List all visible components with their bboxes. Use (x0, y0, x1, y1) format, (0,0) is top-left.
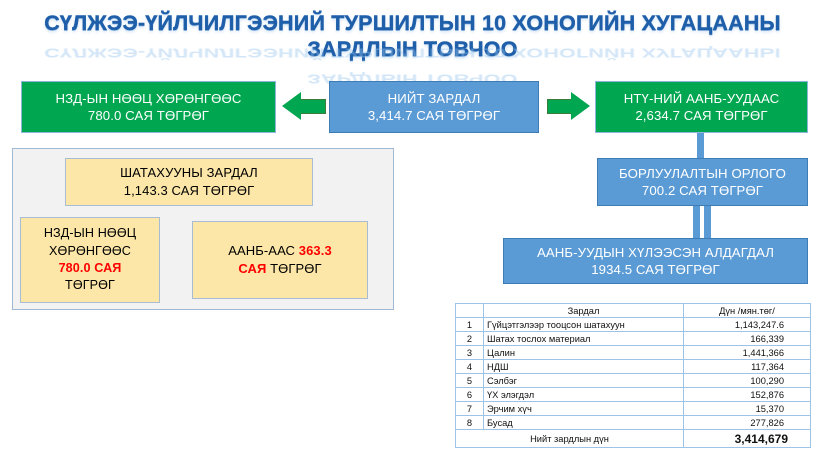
flow-box-sales-revenue-line-2: 700.2 САЯ ТӨГРӨГ (642, 182, 763, 199)
cost-table-body: 1Гүйцэтгэлээр тооцсон шатахуун1,143,247.… (456, 318, 811, 430)
total-label: Нийт зардлын дүн (456, 430, 684, 448)
breakdown-box-from-aanb-line-2: САЯ ТӨГРӨГ (238, 260, 321, 278)
cell-value: 117,364 (684, 360, 811, 374)
cell-no: 8 (456, 416, 484, 430)
table-header-row: Зардал Дүн /мян.төг/ (456, 304, 811, 318)
cell-name: Сэлбэг (484, 374, 684, 388)
breakdown-box-from-reserve: НЗД-ЫН НӨӨЦ ХӨРӨНГӨӨС 780.0 САЯ ТӨГРӨГ (20, 217, 160, 303)
connector-line-double-left (693, 206, 700, 238)
breakdown-box-from-aanb-prefix: ААНБ-ААС (228, 243, 299, 258)
col-header-no (456, 304, 484, 318)
flow-box-source-right-line-1: НТҮ-НИЙ ААНБ-УУДААС (624, 90, 779, 107)
cell-name: НДШ (484, 360, 684, 374)
cell-value: 277,826 (684, 416, 811, 430)
breakdown-box-from-aanb: ААНБ-ААС 363.3 САЯ ТӨГРӨГ (192, 221, 368, 299)
cell-name: Бусад (484, 416, 684, 430)
cell-no: 1 (456, 318, 484, 332)
cell-no: 6 (456, 388, 484, 402)
flow-box-incurred-loss: ААНБ-УУДЫН ХҮЛЭЭСЭН АЛДАГДАЛ 1934.5 САЯ … (503, 238, 808, 284)
table-row: 6ҮХ элэгдэл152,876 (456, 388, 811, 402)
breakdown-box-from-reserve-line-2: ХӨРӨНГӨӨС (49, 243, 131, 260)
breakdown-box-from-reserve-amount: 780.0 САЯ (59, 260, 122, 277)
flow-box-total-expense: НИЙТ ЗАРДАЛ 3,414.7 САЯ ТӨГРӨГ (329, 81, 539, 133)
flow-box-source-left-line-2: 780.0 САЯ ТӨГРӨГ (88, 107, 209, 124)
breakdown-box-fuel-cost: ШАТАХУУНЫ ЗАРДАЛ 1,143.3 САЯ ТӨГРӨГ (65, 158, 313, 206)
cell-name: Шатах тослох материал (484, 332, 684, 346)
flow-box-incurred-loss-line-1: ААНБ-УУДЫН ХҮЛЭЭСЭН АЛДАГДАЛ (537, 244, 774, 261)
breakdown-box-from-aanb-line-1: ААНБ-ААС 363.3 (228, 242, 332, 260)
table-total-row: Нийт зардлын дүн 3,414,679 (456, 430, 811, 448)
connector-line-double-right (704, 206, 711, 238)
page-title-line-1: СҮЛЖЭЭ-ҮЙЛЧИЛГЭЭНИЙ ТУРШИЛТЫН 10 ХОНОГИЙ… (44, 11, 781, 35)
cell-value: 15,370 (684, 402, 811, 416)
col-header-name: Зардал (484, 304, 684, 318)
arrow-right-shaft (547, 99, 573, 114)
flow-box-source-right: НТҮ-НИЙ ААНБ-УУДААС 2,634.7 САЯ ТӨГРӨГ (595, 81, 808, 133)
cell-name: Цалин (484, 346, 684, 360)
cell-value: 152,876 (684, 388, 811, 402)
table-row: 7Эрчим хүч15,370 (456, 402, 811, 416)
flow-box-source-left: НЗД-ЫН НӨӨЦ ХӨРӨНГӨӨС 780.0 САЯ ТӨГРӨГ (21, 81, 276, 133)
table-row: 1Гүйцэтгэлээр тооцсон шатахуун1,143,247.… (456, 318, 811, 332)
cell-no: 3 (456, 346, 484, 360)
breakdown-box-from-reserve-line-1: НЗД-ЫН НӨӨЦ (44, 225, 136, 242)
breakdown-box-from-aanb-scale: САЯ (238, 261, 270, 276)
arrow-right-icon (571, 92, 590, 120)
cell-name: Эрчим хүч (484, 402, 684, 416)
flow-box-source-left-line-1: НЗД-ЫН НӨӨЦ ХӨРӨНГӨӨС (55, 90, 241, 107)
flow-box-total-expense-line-2: 3,414.7 САЯ ТӨГРӨГ (368, 107, 500, 124)
arrow-left-shaft (300, 99, 326, 114)
cost-breakdown-table: Зардал Дүн /мян.төг/ 1Гүйцэтгэлээр тооцс… (455, 303, 811, 448)
cost-table-header: Зардал Дүн /мян.төг/ (456, 304, 811, 318)
flow-box-source-right-line-2: 2,634.7 САЯ ТӨГРӨГ (635, 107, 767, 124)
cell-no: 5 (456, 374, 484, 388)
arrow-left-icon (282, 92, 301, 120)
total-value: 3,414,679 (684, 430, 811, 448)
table-row: 3Цалин1,441,366 (456, 346, 811, 360)
flow-box-sales-revenue: БОРЛУУЛАЛТЫН ОРЛОГО 700.2 САЯ ТӨГРӨГ (597, 158, 808, 206)
breakdown-box-fuel-cost-line-2: 1,143.3 САЯ ТӨГРӨГ (124, 182, 254, 200)
breakdown-box-fuel-cost-line-1: ШАТАХУУНЫ ЗАРДАЛ (120, 164, 258, 182)
cell-no: 2 (456, 332, 484, 346)
cell-no: 7 (456, 402, 484, 416)
cost-table-footer: Нийт зардлын дүн 3,414,679 (456, 430, 811, 448)
connector-line-single (697, 133, 704, 159)
breakdown-box-from-aanb-unit: ТӨГРӨГ (270, 261, 322, 276)
table-row: 4НДШ117,364 (456, 360, 811, 374)
flow-box-incurred-loss-line-2: 1934.5 САЯ ТӨГРӨГ (591, 261, 720, 278)
table-row: 5Сэлбэг100,290 (456, 374, 811, 388)
page-title-line-2: ЗАРДЛЫН ТОВЧОО (307, 37, 517, 61)
col-header-value: Дүн /мян.төг/ (684, 304, 811, 318)
cell-value: 1,441,366 (684, 346, 811, 360)
cell-value: 100,290 (684, 374, 811, 388)
cell-name: Гүйцэтгэлээр тооцсон шатахуун (484, 318, 684, 332)
flow-box-total-expense-line-1: НИЙТ ЗАРДАЛ (388, 90, 481, 107)
table-row: 8Бусад277,826 (456, 416, 811, 430)
breakdown-box-from-aanb-amount: 363.3 (299, 243, 332, 258)
page-title: СҮЛЖЭЭ-ҮЙЛЧИЛГЭЭНИЙ ТУРШИЛТЫН 10 ХОНОГИЙ… (0, 10, 825, 62)
cell-name: ҮХ элэгдэл (484, 388, 684, 402)
cell-value: 166,339 (684, 332, 811, 346)
flow-box-sales-revenue-line-1: БОРЛУУЛАЛТЫН ОРЛОГО (619, 165, 786, 182)
table-row: 2Шатах тослох материал166,339 (456, 332, 811, 346)
breakdown-box-from-reserve-unit: ТӨГРӨГ (65, 277, 115, 294)
cell-no: 4 (456, 360, 484, 374)
cell-value: 1,143,247.6 (684, 318, 811, 332)
